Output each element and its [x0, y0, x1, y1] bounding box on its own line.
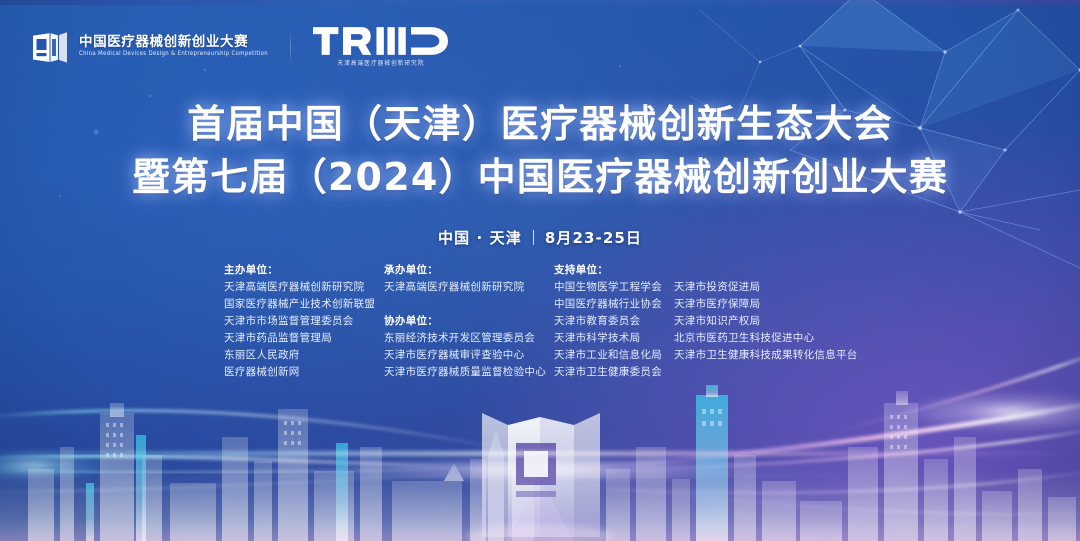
institute-logo-cn: 天津高端医疗器械创新研究院	[338, 59, 425, 68]
organizer-item: 东丽区人民政府	[224, 347, 384, 364]
column-spacer	[384, 296, 554, 313]
coorganizer-item: 东丽经济技术开发区管理委员会	[384, 330, 554, 347]
organizer-item: 国家医疗器械产业技术创新联盟	[224, 296, 384, 313]
horizon-glow	[330, 457, 750, 483]
supporter-item: 中国医疗器械行业协会	[554, 296, 674, 313]
top-accent-strip	[0, 0, 1080, 5]
open-book-door-logo-icon	[30, 28, 70, 66]
organizers-column-undertaker: 承办单位： 天津高端医疗器械创新研究院 协办单位： 东丽经济技术开发区管理委员会…	[384, 262, 554, 381]
competition-logo-text: 中国医疗器械创新创业大赛 China Medical Devices Desig…	[79, 36, 268, 58]
event-location: 中国 · 天津	[438, 227, 522, 248]
logo-divider	[290, 30, 291, 64]
triid-wordmark-icon	[313, 26, 449, 56]
organizers-heading: 主办单位：	[224, 262, 384, 279]
supporters-heading: 支持单位：	[554, 262, 674, 279]
title-line-1: 首届中国（天津）医疗器械创新生态大会	[0, 98, 1080, 151]
organizers-block: 主办单位： 天津高端医疗器械创新研究院 国家医疗器械产业技术创新联盟 天津市市场…	[224, 262, 858, 381]
competition-logo-building	[466, 413, 614, 541]
supporter-item: 中国生物医学工程学会	[554, 279, 674, 296]
supporter-item: 天津市教育委员会	[554, 313, 674, 330]
supporter-item: 天津市工业和信息化局	[554, 347, 674, 364]
skyline-windows-right	[702, 409, 907, 449]
supporter-item: 天津市知识产权局	[674, 313, 858, 330]
skyline-windows-left	[106, 421, 301, 457]
header-logos: 中国医疗器械创新创业大赛 China Medical Devices Desig…	[30, 26, 449, 67]
supporter-item: 天津市医疗保障局	[674, 296, 858, 313]
horizon-light-line	[0, 452, 1080, 455]
meta-separator	[533, 230, 534, 245]
organizer-item: 天津市市场监督管理委员会	[224, 313, 384, 330]
supporter-item: 天津市卫生健康委员会	[554, 364, 674, 381]
skyline-buildings-right-inner	[606, 447, 690, 541]
event-date: 8月23-25日	[545, 227, 642, 248]
organizer-item: 医疗器械创新网	[224, 364, 384, 381]
supporter-item: 天津市投资促进局	[674, 279, 858, 296]
competition-logo[interactable]: 中国医疗器械创新创业大赛 China Medical Devices Desig…	[30, 28, 268, 66]
competition-logo-en: China Medical Devices Design & Entrepren…	[79, 52, 268, 58]
light-streak-ribbons-left	[0, 411, 540, 492]
title-line-2: 暨第七届（2024）中国医疗器械创新创业大赛	[0, 151, 1080, 204]
skyline-buildings-right	[734, 391, 1076, 541]
skyline-buildings-right-accent	[696, 385, 728, 541]
competition-logo-cn: 中国医疗器械创新创业大赛	[79, 36, 268, 50]
event-meta: 中国 · 天津 8月23-25日	[0, 227, 1080, 248]
coorganizer-item: 天津市医疗器械质量监督检验中心	[384, 364, 554, 381]
page-title: 首届中国（天津）医疗器械创新生态大会 暨第七届（2024）中国医疗器械创新创业大…	[0, 98, 1080, 204]
coorganizer-heading: 协办单位：	[384, 313, 554, 330]
organizer-item: 天津市药品监督管理局	[224, 330, 384, 347]
undertaker-heading: 承办单位：	[384, 262, 554, 279]
organizers-column-host: 主办单位： 天津高端医疗器械创新研究院 国家医疗器械产业技术创新联盟 天津市市场…	[224, 262, 384, 381]
skyline-buildings-left-accent	[86, 435, 348, 541]
supporter-item: 北京市医药卫生科技促进中心	[674, 330, 858, 347]
supporter-item: 天津市科学技术局	[554, 330, 674, 347]
undertaker-item: 天津高端医疗器械创新研究院	[384, 279, 554, 296]
organizer-item: 天津高端医疗器械创新研究院	[224, 279, 384, 296]
conference-poster: 中国医疗器械创新创业大赛 China Medical Devices Desig…	[0, 0, 1080, 541]
skyline-buildings-mid	[392, 429, 534, 541]
organizers-column-supporters-a: 支持单位： 中国生物医学工程学会 中国医疗器械行业协会 天津市教育委员会 天津市…	[554, 262, 674, 381]
organizers-column-supporters-b: 天津市投资促进局 天津市医疗保障局 天津市知识产权局 北京市医药卫生科技促进中心…	[674, 262, 858, 381]
supporter-item: 天津市卫生健康科技成果转化信息平台	[674, 347, 858, 364]
skyline-haze	[0, 469, 1080, 541]
coorganizer-item: 天津市医疗器械审评查验中心	[384, 347, 554, 364]
skyline-buildings-left	[28, 403, 382, 541]
institute-logo[interactable]: 天津高端医疗器械创新研究院	[313, 26, 449, 67]
